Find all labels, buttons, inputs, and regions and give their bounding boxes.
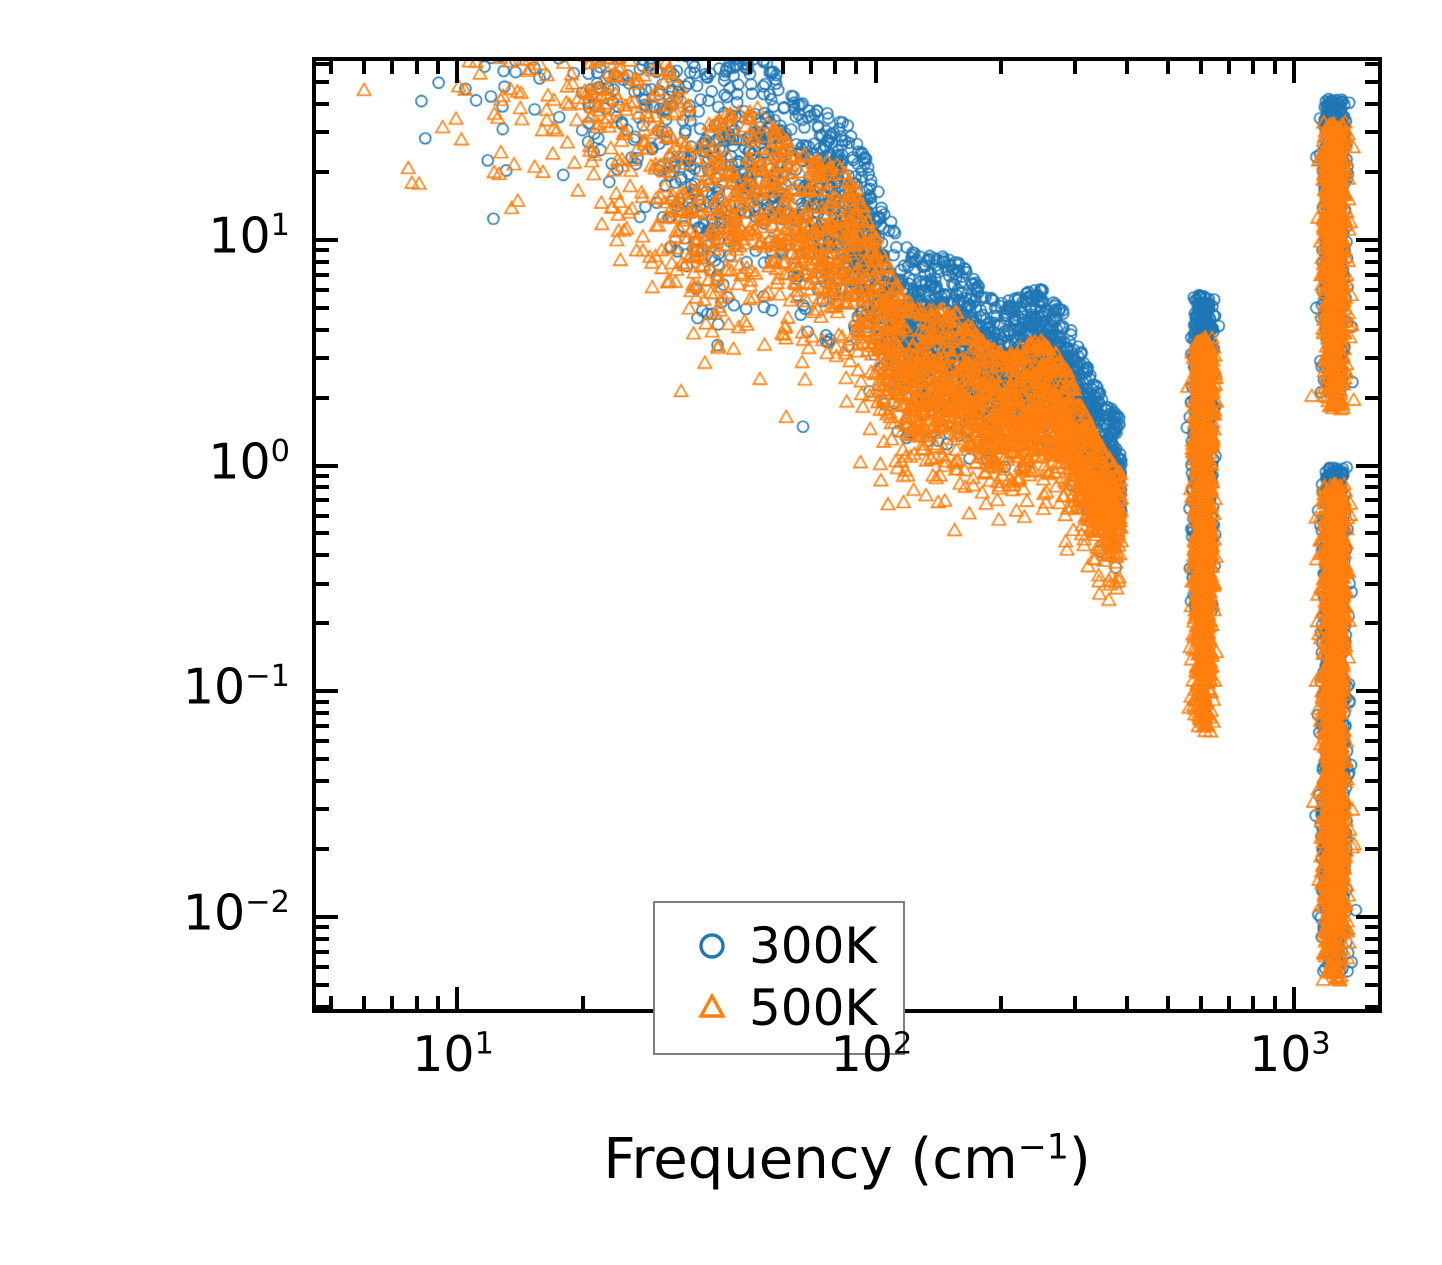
- x-tick: [362, 61, 366, 74]
- y-tick: [316, 983, 329, 987]
- y-tick: [1365, 130, 1378, 134]
- x-tick: [999, 996, 1003, 1009]
- y-tick: [316, 553, 329, 557]
- y-tick: [316, 356, 329, 360]
- y-tick: [1356, 464, 1378, 468]
- y-tick: [1365, 983, 1378, 987]
- x-tick: [707, 61, 711, 74]
- x-tick: [455, 987, 459, 1009]
- y-tick: [1365, 396, 1378, 400]
- x-tick-label: 101: [412, 1030, 494, 1079]
- figure: Lifetime (ps) 10110010−110−2 300K: [0, 0, 1442, 1265]
- x-tick: [874, 61, 878, 83]
- x-tick-label: 102: [831, 1030, 913, 1079]
- y-tick: [316, 582, 329, 586]
- y-tick: [1356, 238, 1378, 242]
- y-tick: [316, 950, 329, 954]
- y-tick: [316, 485, 329, 489]
- legend-entry-300k[interactable]: 300K: [675, 915, 877, 977]
- y-tick: [1365, 80, 1378, 84]
- y-tick: [1356, 689, 1378, 693]
- x-tick: [1166, 61, 1170, 74]
- y-tick: [1365, 1005, 1378, 1009]
- x-tick: [329, 61, 333, 74]
- y-tick: [316, 248, 329, 252]
- y-tick: [316, 915, 338, 919]
- y-tick: [1365, 621, 1378, 625]
- x-tick: [1199, 996, 1203, 1009]
- y-tick: [316, 531, 329, 535]
- y-tick: [1365, 553, 1378, 557]
- y-tick: [1365, 273, 1378, 277]
- x-tick: [1251, 996, 1255, 1009]
- y-tick: [1365, 485, 1378, 489]
- y-tick: [316, 757, 329, 761]
- y-tick: [1365, 328, 1378, 332]
- x-tick: [1292, 61, 1296, 83]
- x-tick: [809, 61, 813, 74]
- y-tick: [316, 711, 329, 715]
- x-tick: [415, 61, 419, 74]
- x-axis-label: Frequency (cm−1): [603, 1127, 1090, 1192]
- x-tick: [581, 61, 585, 74]
- y-tick: [316, 965, 329, 969]
- x-tick: [455, 61, 459, 83]
- y-tick: [1365, 306, 1378, 310]
- y-tick: [316, 170, 329, 174]
- x-tick: [1251, 61, 1255, 74]
- x-tick: [1125, 996, 1129, 1009]
- circle-open-icon: [675, 926, 749, 966]
- y-tick: [316, 1005, 329, 1009]
- y-tick: [316, 621, 329, 625]
- y-tick: [1365, 582, 1378, 586]
- y-tick: [1365, 62, 1378, 66]
- y-tick: [1365, 170, 1378, 174]
- x-tick: [415, 996, 419, 1009]
- y-tick: [316, 925, 329, 929]
- y-tick: [316, 306, 329, 310]
- y-tick: [1365, 937, 1378, 941]
- y-tick: [1365, 288, 1378, 292]
- plot-area: 300K 500K: [312, 57, 1382, 1013]
- x-tick: [1073, 61, 1077, 74]
- y-tick: [1365, 965, 1378, 969]
- y-tick-label: 101: [208, 211, 290, 260]
- x-tick: [1125, 61, 1129, 74]
- x-tick: [1273, 61, 1277, 74]
- x-tick: [1227, 61, 1231, 74]
- y-tick-label: 100: [208, 437, 290, 486]
- x-tick: [329, 996, 333, 1009]
- y-tick: [1365, 711, 1378, 715]
- x-tick: [1292, 987, 1296, 1009]
- y-tick: [1365, 925, 1378, 929]
- y-tick: [316, 238, 338, 242]
- x-tick: [748, 61, 752, 74]
- y-tick-label: 10−1: [183, 663, 290, 712]
- y-tick: [316, 724, 329, 728]
- y-tick: [316, 700, 329, 704]
- y-tick: [1365, 724, 1378, 728]
- y-tick: [316, 102, 329, 106]
- y-tick: [1365, 474, 1378, 478]
- y-tick: [316, 847, 329, 851]
- y-tick: [316, 62, 329, 66]
- y-tick: [1365, 739, 1378, 743]
- triangle-open-icon: [675, 988, 749, 1028]
- y-tick: [316, 288, 329, 292]
- x-tick: [1073, 996, 1077, 1009]
- x-tick: [1166, 996, 1170, 1009]
- y-tick: [1365, 514, 1378, 518]
- y-tick: [1356, 915, 1378, 919]
- y-tick: [316, 328, 329, 332]
- y-tick: [1365, 531, 1378, 535]
- y-tick: [316, 807, 329, 811]
- y-tick: [316, 130, 329, 134]
- x-tick: [581, 996, 585, 1009]
- x-tick: [1227, 996, 1231, 1009]
- y-tick: [1365, 248, 1378, 252]
- y-tick: [316, 739, 329, 743]
- x-tick: [362, 996, 366, 1009]
- x-tick: [655, 61, 659, 74]
- y-tick: [1365, 847, 1378, 851]
- y-tick: [1365, 102, 1378, 106]
- x-tick: [436, 996, 440, 1009]
- legend-label-300k: 300K: [749, 917, 877, 975]
- y-tick: [316, 779, 329, 783]
- y-tick: [316, 80, 329, 84]
- x-tick: [781, 61, 785, 74]
- x-tick: [854, 61, 858, 74]
- y-tick-label: 10−2: [183, 888, 290, 937]
- y-tick: [316, 396, 329, 400]
- y-tick: [316, 498, 329, 502]
- x-tick: [999, 61, 1003, 74]
- y-tick: [1365, 757, 1378, 761]
- x-tick: [390, 61, 394, 74]
- y-tick: [1365, 779, 1378, 783]
- x-tick: [436, 61, 440, 74]
- y-tick: [316, 260, 329, 264]
- y-tick: [316, 689, 338, 693]
- x-tick: [390, 996, 394, 1009]
- scatter-canvas: [316, 61, 1378, 1009]
- y-tick: [1365, 950, 1378, 954]
- y-tick: [316, 937, 329, 941]
- y-tick: [1365, 498, 1378, 502]
- y-tick: [316, 464, 338, 468]
- x-tick: [1199, 61, 1203, 74]
- x-tick: [1273, 996, 1277, 1009]
- y-tick: [1365, 807, 1378, 811]
- y-tick: [316, 474, 329, 478]
- x-tick: [833, 61, 837, 74]
- y-tick: [316, 514, 329, 518]
- y-tick: [1365, 700, 1378, 704]
- x-tick-label: 103: [1249, 1030, 1331, 1079]
- y-tick: [1365, 260, 1378, 264]
- y-tick: [1365, 356, 1378, 360]
- y-tick: [316, 273, 329, 277]
